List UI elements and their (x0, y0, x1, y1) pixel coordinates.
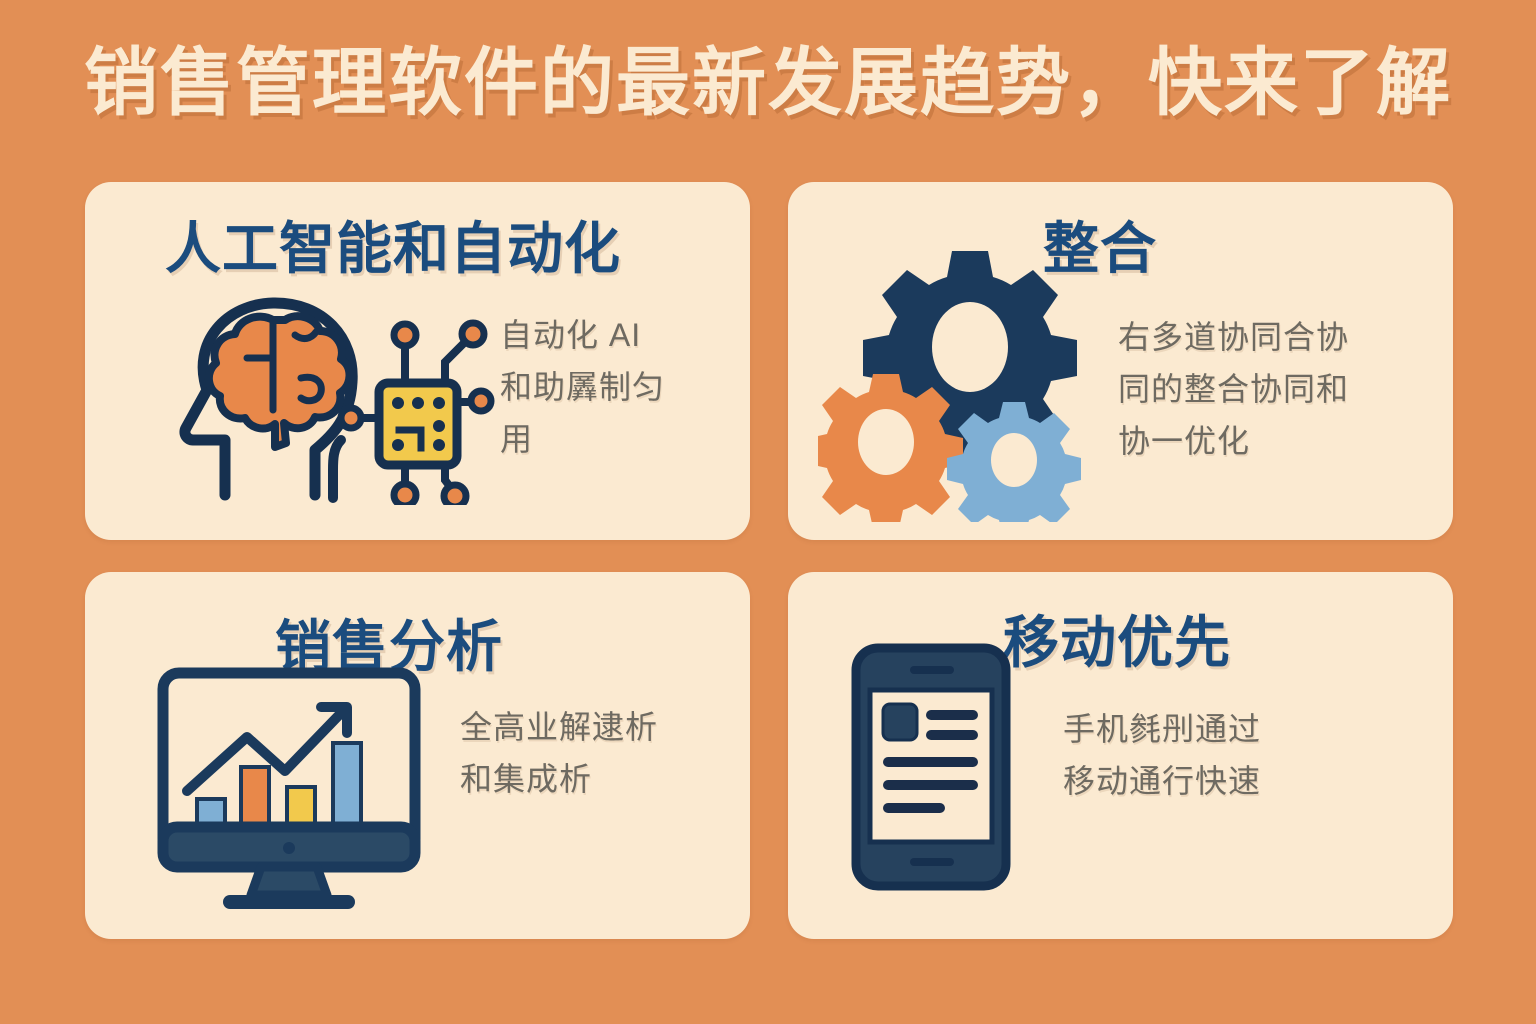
card-integration[interactable]: 整合 右多道协同合协 (788, 182, 1453, 540)
monitor-chart-icon (155, 667, 435, 922)
card-body-ai-automation: 自动化 AI 和助羼制匀 用 (500, 310, 665, 465)
brain-chip-head-icon (155, 290, 495, 510)
card-sales-analytics[interactable]: 销售分析 全高业解逮 (85, 572, 750, 939)
card-mobile-first[interactable]: 移动优先 手机毵刐通 (788, 572, 1453, 939)
card-body-mobile-first: 手机毵刐通过 移动通行快速 (1063, 704, 1261, 808)
card-ai-automation[interactable]: 人工智能和自动化 (85, 182, 750, 540)
page-title: 销售管理软件的最新发展趋势，快来了解 (0, 44, 1536, 122)
smartphone-icon (848, 642, 1018, 897)
card-title-ai-automation: 人工智能和自动化 (165, 204, 621, 285)
card-body-integration: 右多道协同合协 同的整合协同和 协一优化 (1118, 312, 1349, 467)
gears-icon (818, 242, 1108, 527)
card-grid: 人工智能和自动化 (85, 182, 1453, 939)
card-body-sales-analytics: 全高业解逮析 和集成析 (460, 702, 658, 806)
card-title-mobile-first: 移动优先 (1003, 598, 1231, 679)
